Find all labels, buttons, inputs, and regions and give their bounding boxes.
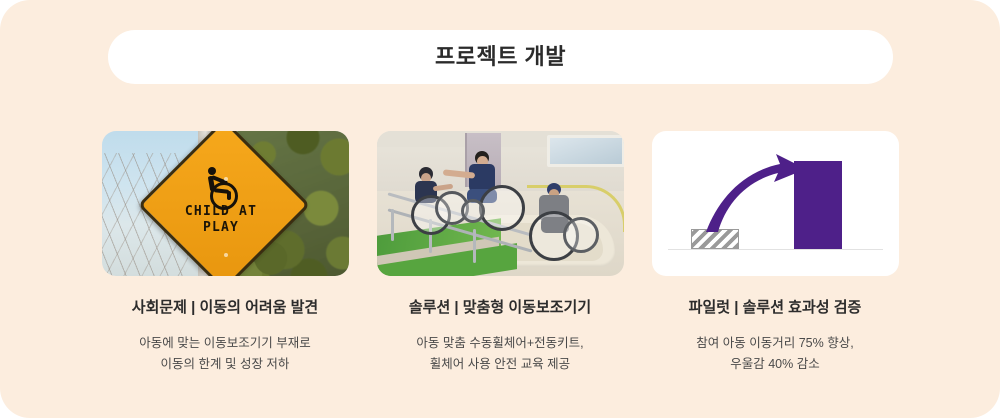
page-title: 프로젝트 개발 (435, 46, 566, 68)
card-description-line: 아동에 맞는 이동보조기기 부재로 (139, 333, 310, 354)
card-solution: 솔루션 | 맞춤형 이동보조기기 아동 맞춤 수동휠체어+전동키트, 휠체어 사… (377, 131, 624, 374)
wheelchair-icon (201, 167, 241, 203)
chart-baseline (668, 249, 883, 250)
person-back-in-wheelchair (529, 183, 601, 257)
infographic-page: 프로젝트 개발 CHILD AT PLAY (0, 0, 1000, 418)
card-row: CHILD AT PLAY 사회문제 | 이동의 어려움 발견 아동에 맞는 이… (0, 131, 1000, 374)
card-description: 참여 아동 이동거리 75% 향상, 우울감 40% 감소 (696, 333, 853, 374)
card-title: 솔루션 | 맞춤형 이동보조기기 (409, 299, 591, 317)
growth-arrow-icon (702, 152, 812, 234)
card-title: 사회문제 | 이동의 어려움 발견 (132, 299, 318, 317)
sign-face: CHILD AT PLAY (163, 144, 279, 260)
child-at-play-sign-photo: CHILD AT PLAY (102, 131, 349, 276)
card-pilot: 파일럿 | 솔루션 효과성 검증 참여 아동 이동거리 75% 향상, 우울감 … (652, 131, 899, 374)
card-social-problem: CHILD AT PLAY 사회문제 | 이동의 어려움 발견 아동에 맞는 이… (102, 131, 349, 374)
card-description: 아동에 맞는 이동보조기기 부재로 이동의 한계 및 성장 저하 (139, 333, 310, 374)
card-description-line: 휠체어 사용 안전 교육 제공 (416, 354, 583, 375)
sign-text-line-2: PLAY (203, 220, 239, 236)
card-description-line: 우울감 40% 감소 (696, 354, 853, 375)
card-description: 아동 맞춤 수동휠체어+전동키트, 휠체어 사용 안전 교육 제공 (416, 333, 583, 374)
growth-bar-chart-illustration (652, 131, 899, 276)
sign-bolt-bottom (224, 253, 228, 257)
card-description-line: 아동 맞춤 수동휠체어+전동키트, (416, 333, 583, 354)
card-description-line: 이동의 한계 및 성장 저하 (139, 354, 310, 375)
window (547, 135, 624, 167)
handrail-post (473, 229, 476, 263)
card-description-line: 참여 아동 이동거리 75% 향상, (696, 333, 853, 354)
page-title-pill: 프로젝트 개발 (108, 30, 893, 84)
sign-bolt-top (224, 177, 228, 181)
wheelchair-training-photo (377, 131, 624, 276)
handrail-post (391, 209, 394, 241)
card-title: 파일럿 | 솔루션 효과성 검증 (689, 299, 862, 317)
person-trainer-in-wheelchair (455, 151, 531, 233)
